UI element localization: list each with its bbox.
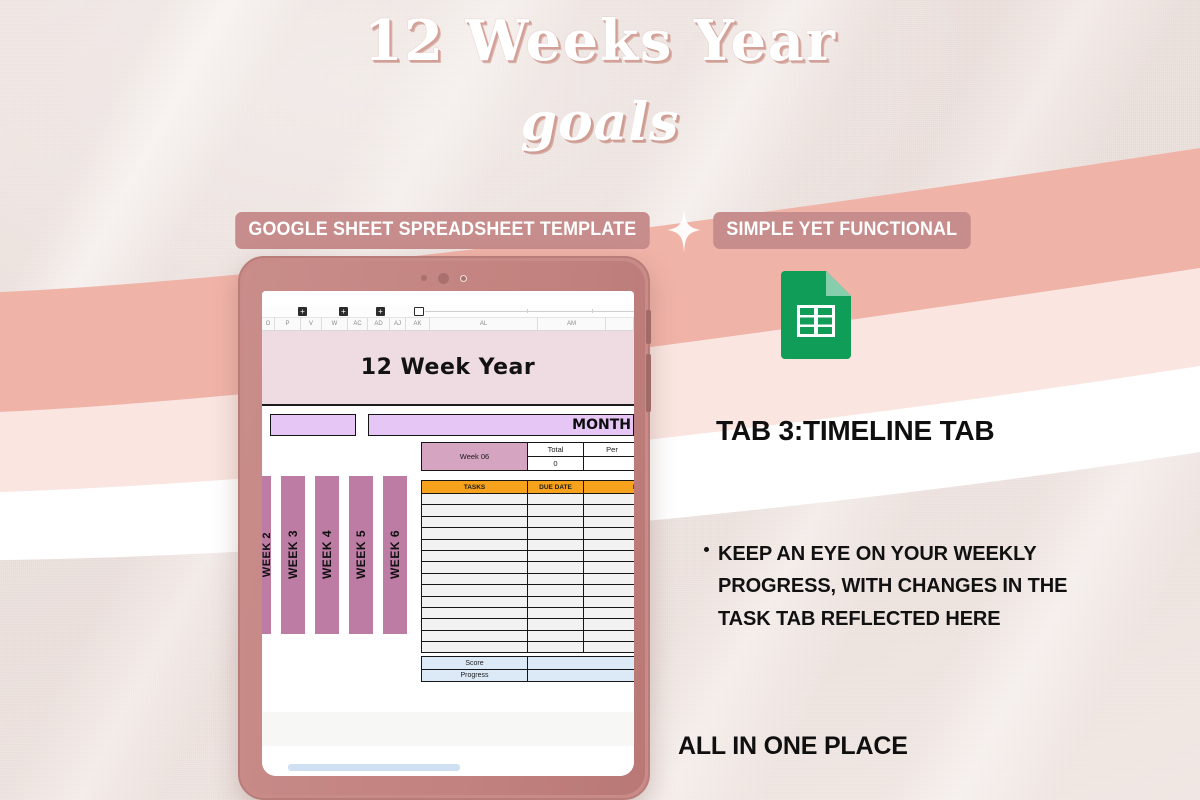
col-header[interactable]: V: [301, 318, 322, 330]
table-cell[interactable]: [528, 528, 584, 538]
week-bar-group: WEEK 2 WEEK 3 WEEK 4 WEEK 5 WEEK 6: [262, 476, 407, 634]
power-button[interactable]: [646, 354, 651, 412]
week-bar-5: WEEK 5: [349, 476, 373, 634]
table-cell[interactable]: [584, 494, 634, 504]
table-cell[interactable]: [528, 562, 584, 572]
score-label: Score: [422, 657, 528, 669]
table-row: Progress: [422, 669, 634, 681]
dot-small-icon: [421, 275, 427, 281]
lavender-bar-left[interactable]: [270, 414, 356, 436]
score-table: Score Progress: [421, 656, 634, 682]
week-bar-6: WEEK 6: [383, 476, 407, 634]
table-row: Score: [422, 657, 634, 669]
sheet-bottom-area: [262, 698, 634, 776]
expand-plus-icon[interactable]: +: [339, 307, 348, 316]
table-cell[interactable]: [584, 597, 634, 607]
table-row: [422, 607, 634, 618]
th-tasks: TASKS: [422, 481, 528, 493]
score-value[interactable]: [528, 657, 634, 669]
expand-plus-icon[interactable]: +: [298, 307, 307, 316]
promo-canvas: 12 Weeks Year goals GOOGLE SHEET SPREADS…: [0, 0, 1200, 800]
table-cell[interactable]: [422, 528, 528, 538]
table-cell[interactable]: [528, 551, 584, 561]
task-panel: Week 06 Total 0 Per TASKS D: [421, 442, 634, 682]
table-cell[interactable]: [584, 540, 634, 550]
th-day: DAY: [584, 481, 634, 493]
col-header[interactable]: AD: [368, 318, 390, 330]
table-cell[interactable]: [422, 619, 528, 629]
page-title: 12 Weeks Year: [0, 8, 1200, 74]
week-bar-label: WEEK 6: [388, 530, 402, 579]
sheet-top-gap: [262, 291, 634, 305]
sheet-footer-band: [262, 712, 634, 746]
table-cell[interactable]: [528, 619, 584, 629]
table-cell[interactable]: [422, 562, 528, 572]
table-cell[interactable]: [422, 540, 528, 550]
volume-button[interactable]: [646, 310, 651, 344]
four-point-star-icon: [667, 207, 701, 253]
h-scrollbar[interactable]: [288, 764, 460, 771]
footer-tagline: ALL IN ONE PLACE: [678, 732, 908, 761]
table-cell[interactable]: [528, 642, 584, 652]
table-cell[interactable]: [584, 517, 634, 527]
collapse-minus-icon[interactable]: [414, 307, 424, 316]
total-value: 0: [528, 457, 583, 470]
table-cell[interactable]: [422, 574, 528, 584]
table-cell[interactable]: [584, 585, 634, 595]
table-cell[interactable]: [422, 517, 528, 527]
week-bar-2: WEEK 2: [262, 476, 271, 634]
page-subtitle: goals: [0, 92, 1200, 153]
week-summary-row: Week 06 Total 0 Per: [421, 442, 634, 471]
week-bar-label: WEEK 5: [354, 530, 368, 579]
table-row: [422, 561, 634, 572]
week-bar-label: WEEK 2: [262, 532, 273, 577]
task-table: TASKS DUE DATE DAY: [421, 480, 634, 653]
col-header[interactable]: AJ: [390, 318, 406, 330]
week-bar-4: WEEK 4: [315, 476, 339, 634]
progress-label: Progress: [422, 670, 528, 681]
table-cell[interactable]: [528, 574, 584, 584]
percent-label: Per: [584, 443, 634, 457]
table-cell[interactable]: [528, 585, 584, 595]
table-row: [422, 493, 634, 504]
week-bar-label: WEEK 4: [320, 530, 334, 579]
badge-functional: SIMPLE YET FUNCTIONAL: [713, 212, 970, 249]
table-cell[interactable]: [584, 505, 634, 515]
progress-value[interactable]: [528, 670, 634, 681]
table-cell[interactable]: [584, 619, 634, 629]
expand-plus-icon[interactable]: +: [376, 307, 385, 316]
table-cell[interactable]: [528, 540, 584, 550]
col-header[interactable]: AM: [538, 318, 606, 330]
lavender-bar-row: MONTH: [262, 406, 634, 442]
table-row: [422, 641, 634, 652]
month-label: MONTH: [572, 417, 631, 433]
total-column: Total 0: [528, 443, 584, 470]
table-row: [422, 584, 634, 595]
lavender-bar-right[interactable]: MONTH: [368, 414, 634, 436]
badge-template: GOOGLE SHEET SPREADSHEET TEMPLATE: [235, 212, 649, 249]
week-chip: Week 06: [422, 443, 528, 470]
table-row: [422, 550, 634, 561]
sheet-body: WEEK 2 WEEK 3 WEEK 4 WEEK 5 WEEK 6: [262, 442, 634, 690]
table-cell[interactable]: [528, 631, 584, 641]
table-cell[interactable]: [584, 574, 634, 584]
table-cell[interactable]: [584, 562, 634, 572]
badge-row: GOOGLE SHEET SPREADSHEET TEMPLATE SIMPLE…: [0, 207, 1200, 253]
task-table-header: TASKS DUE DATE DAY: [422, 481, 634, 493]
table-cell[interactable]: [422, 551, 528, 561]
bullet-icon: [704, 547, 709, 552]
col-header[interactable]: AL: [430, 318, 538, 330]
table-cell[interactable]: [584, 528, 634, 538]
table-cell[interactable]: [422, 585, 528, 595]
th-due-date: DUE DATE: [528, 481, 584, 493]
table-cell[interactable]: [528, 597, 584, 607]
total-label: Total: [528, 443, 583, 457]
google-sheets-icon: [781, 271, 851, 359]
table-cell[interactable]: [528, 517, 584, 527]
percent-value: [584, 457, 634, 470]
bullet-text: KEEP AN EYE ON YOUR WEEKLY PROGRESS, WIT…: [718, 538, 1124, 635]
sheet-column-headers[interactable]: O P V W AC AD AJ AK AL AM: [262, 318, 634, 331]
table-cell[interactable]: [584, 608, 634, 618]
task-table-body: [422, 493, 634, 652]
list-item: KEEP AN EYE ON YOUR WEEKLY PROGRESS, WIT…: [704, 538, 1124, 635]
tablet-screen: + + + O P V W AC AD AJ AK AL AM: [262, 291, 634, 776]
table-row: [422, 527, 634, 538]
table-row: [422, 573, 634, 584]
table-cell[interactable]: [422, 631, 528, 641]
col-header[interactable]: W: [322, 318, 348, 330]
sheet-group-controls: + + +: [262, 305, 634, 318]
dot-large-icon: [438, 273, 449, 284]
table-cell[interactable]: [528, 505, 584, 515]
table-cell[interactable]: [422, 608, 528, 618]
col-header[interactable]: AC: [348, 318, 368, 330]
table-cell[interactable]: [584, 642, 634, 652]
sheet-banner: 12 Week Year: [262, 331, 634, 406]
table-row: [422, 630, 634, 641]
col-header[interactable]: AK: [406, 318, 430, 330]
table-row: [422, 596, 634, 607]
table-cell[interactable]: [422, 505, 528, 515]
col-header-extra[interactable]: [606, 318, 634, 330]
week-bar-label: WEEK 3: [286, 530, 300, 579]
table-cell[interactable]: [584, 631, 634, 641]
table-cell[interactable]: [528, 608, 584, 618]
table-row: [422, 504, 634, 515]
col-header[interactable]: P: [275, 318, 301, 330]
sheet-banner-title: 12 Week Year: [361, 355, 535, 380]
table-cell[interactable]: [422, 494, 528, 504]
table-row: [422, 618, 634, 629]
table-cell[interactable]: [528, 494, 584, 504]
camera-icon: [460, 275, 467, 282]
tablet-top-bezel: [240, 264, 648, 292]
table-cell[interactable]: [422, 597, 528, 607]
table-row: [422, 539, 634, 550]
tablet-device: + + + O P V W AC AD AJ AK AL AM: [238, 256, 650, 800]
col-header[interactable]: O: [262, 318, 275, 330]
table-cell[interactable]: [422, 642, 528, 652]
percent-column: Per: [584, 443, 634, 470]
tab-heading: TAB 3:TIMELINE TAB: [716, 415, 994, 447]
table-row: [422, 516, 634, 527]
week-bar-3: WEEK 3: [281, 476, 305, 634]
table-cell[interactable]: [584, 551, 634, 561]
